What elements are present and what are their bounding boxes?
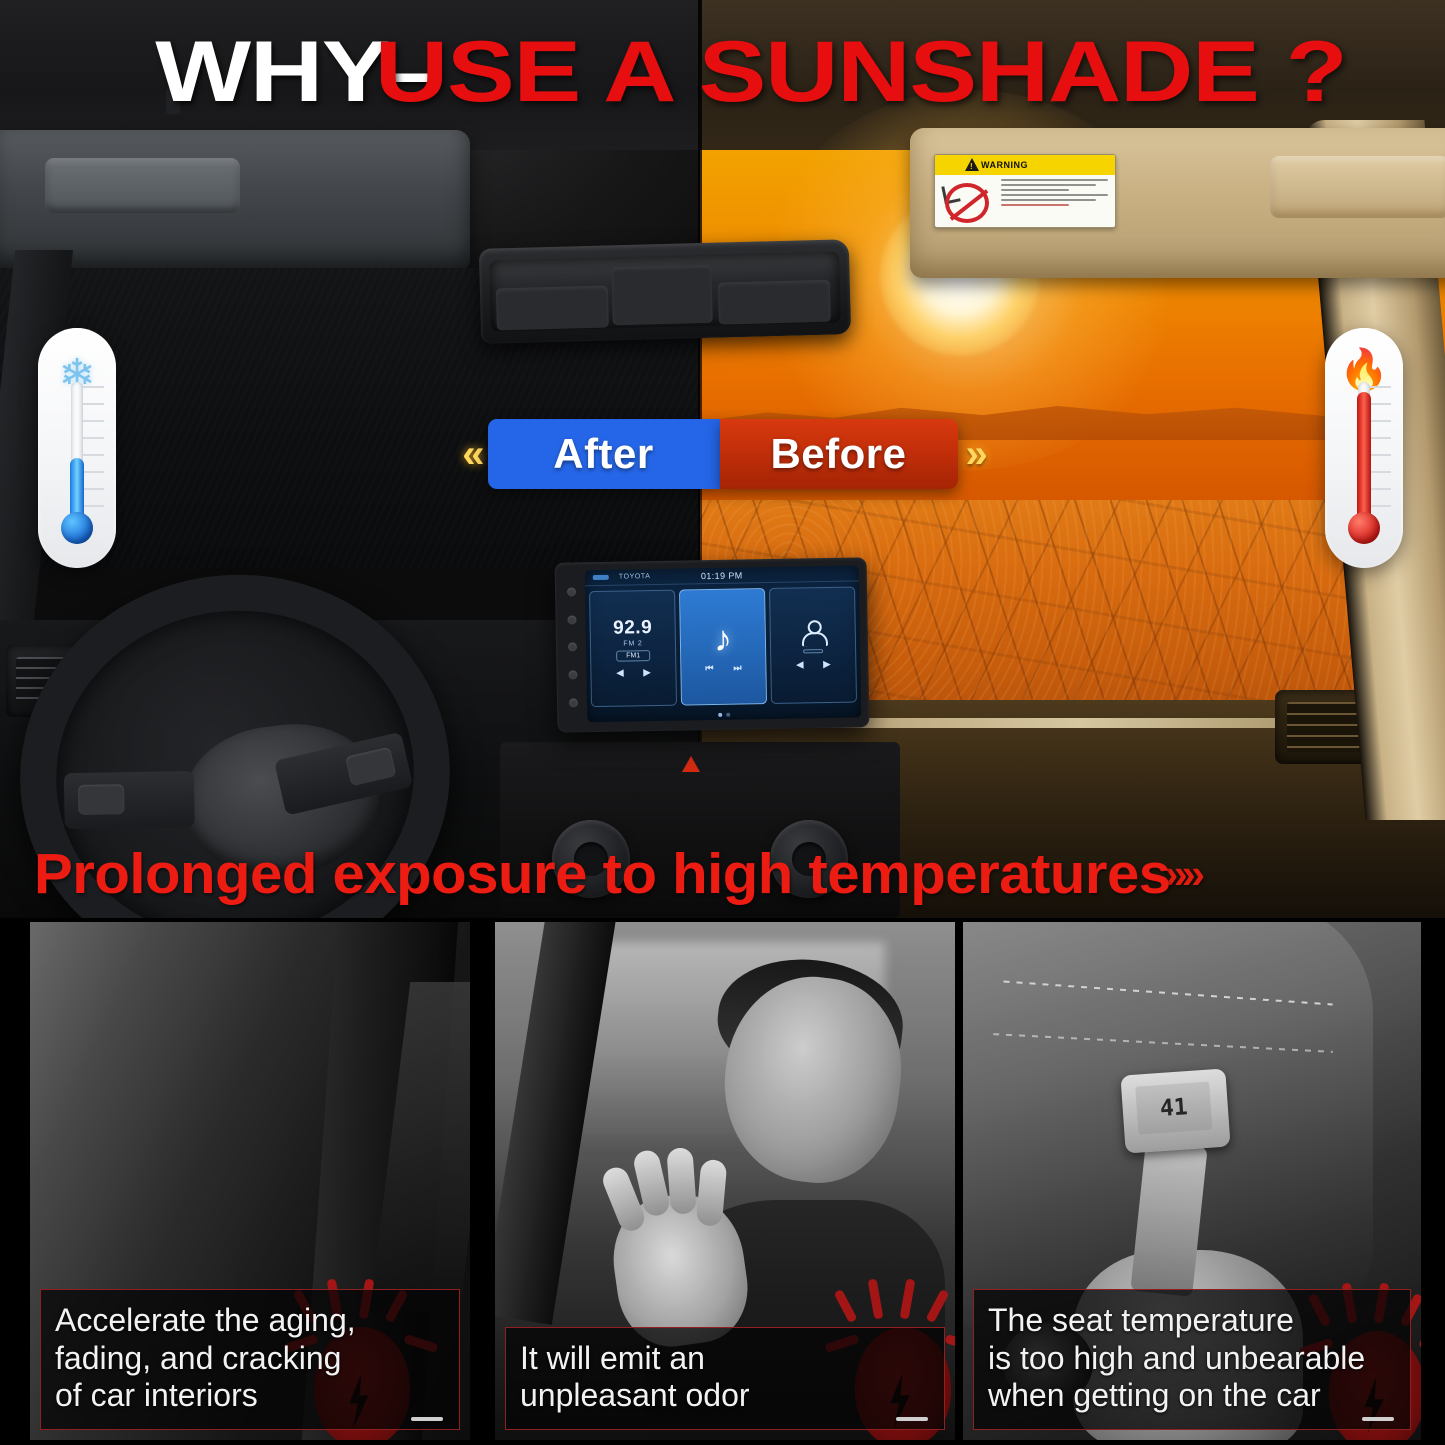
radio-next-button[interactable]: ▶ bbox=[643, 667, 650, 678]
head-unit-button[interactable] bbox=[567, 615, 576, 624]
panel-aging-fading-cracking: Accelerate the aging, fading, and cracki… bbox=[30, 922, 470, 1440]
chevron-right-icon: » bbox=[966, 434, 983, 474]
before-after-hero: WARNING bbox=[0, 0, 1445, 918]
warning-text-line bbox=[1001, 204, 1069, 206]
caption-line: of car interiors bbox=[55, 1377, 445, 1415]
media-prev-button[interactable]: ⏮ bbox=[705, 662, 713, 673]
sunshade-infographic-poster: WARNING bbox=[0, 0, 1445, 1445]
panel-unpleasant-odor: It will emit an unpleasant odor bbox=[495, 922, 955, 1440]
bluetooth-icon bbox=[593, 575, 609, 580]
head-unit-button[interactable] bbox=[566, 588, 575, 597]
page-dot-active[interactable] bbox=[718, 713, 722, 717]
warning-text-line bbox=[1001, 184, 1096, 186]
title-why: WHY bbox=[155, 29, 388, 115]
warning-label-body bbox=[935, 175, 1115, 228]
warning-text-line bbox=[1001, 179, 1108, 181]
warning-label-header: WARNING bbox=[935, 155, 1115, 175]
sun-visor-pocket bbox=[1270, 156, 1445, 218]
profile-nav-controls[interactable]: ◀ ▶ bbox=[796, 659, 830, 671]
warning-label-heading: WARNING bbox=[981, 160, 1028, 170]
warning-text-line bbox=[1001, 194, 1108, 196]
infotainment-head-unit[interactable]: TOYOTA 01:19 PM 92.9 FM 2 FM1 ◀ ▶ ♪ bbox=[555, 557, 870, 732]
head-unit-button[interactable] bbox=[568, 670, 577, 679]
caption-underscore bbox=[896, 1417, 928, 1421]
caption-line: is too high and unbearable bbox=[988, 1340, 1396, 1378]
panel-caption: It will emit an unpleasant odor bbox=[505, 1327, 945, 1431]
hazard-light-button[interactable] bbox=[682, 756, 700, 772]
infrared-thermometer: 41 bbox=[1120, 1068, 1230, 1153]
title-highlight: USE A SUNSHADE ? bbox=[375, 29, 1347, 115]
caption-line: fading, and cracking bbox=[55, 1340, 445, 1378]
warning-text-line bbox=[1001, 189, 1069, 191]
radio-prev-button[interactable]: ◀ bbox=[616, 668, 623, 679]
page-dot[interactable] bbox=[726, 713, 730, 717]
chevron-left-icon: « bbox=[462, 434, 479, 474]
radio-frequency: 92.9 bbox=[613, 618, 652, 638]
caption-line: It will emit an bbox=[520, 1340, 930, 1378]
radio-band-label: FM 2 bbox=[623, 640, 642, 647]
infotainment-tiles: 92.9 FM 2 FM1 ◀ ▶ ♪ ⏮ ⏭ bbox=[585, 581, 861, 712]
infotainment-screen[interactable]: TOYOTA 01:19 PM 92.9 FM 2 FM1 ◀ ▶ ♪ bbox=[585, 565, 862, 722]
thermometer-bulb-cold bbox=[61, 512, 93, 544]
thermometer-bulb-hot bbox=[1348, 512, 1380, 544]
radio-preset-label[interactable]: FM1 bbox=[616, 650, 650, 662]
warning-text-line bbox=[1001, 199, 1096, 201]
panel-caption: The seat temperature is too high and unb… bbox=[973, 1289, 1411, 1430]
caption-line: when getting on the car bbox=[988, 1377, 1396, 1415]
airbag-warning-label: WARNING bbox=[934, 154, 1116, 228]
before-badge[interactable]: Before bbox=[720, 419, 958, 489]
panel-seat-too-hot: 41 The seat temperature is too high and … bbox=[963, 922, 1421, 1440]
thermometer-lcd: 41 bbox=[1135, 1082, 1212, 1135]
finger bbox=[696, 1159, 728, 1227]
mirror-reflection-seat bbox=[496, 285, 609, 330]
media-transport-controls[interactable]: ⏮ ⏭ bbox=[705, 662, 741, 674]
after-badge[interactable]: After bbox=[488, 419, 720, 489]
infotainment-clock: 01:19 PM bbox=[701, 570, 743, 581]
tagline-row: Prolonged exposure to high temperatures … bbox=[0, 826, 1445, 922]
driver-profile-icon bbox=[802, 620, 824, 646]
warning-triangle-icon bbox=[965, 158, 979, 171]
radio-seek-controls[interactable]: ◀ ▶ bbox=[616, 667, 650, 679]
steering-button-cluster-right bbox=[345, 747, 397, 787]
prohibition-circle-icon bbox=[945, 183, 989, 223]
consequence-panels: Accelerate the aging, fading, and cracki… bbox=[0, 918, 1445, 1445]
tagline-text: Prolonged exposure to high temperatures bbox=[34, 846, 1171, 903]
sun-visor-right: WARNING bbox=[910, 128, 1445, 278]
radio-tile[interactable]: 92.9 FM 2 FM1 ◀ ▶ bbox=[589, 590, 677, 707]
warning-label-text-block bbox=[999, 175, 1115, 228]
head-unit-side-buttons[interactable] bbox=[563, 578, 581, 716]
media-tile[interactable]: ♪ ⏮ ⏭ bbox=[679, 588, 767, 705]
music-note-icon: ♪ bbox=[714, 620, 733, 656]
steering-button-cluster-left bbox=[78, 784, 125, 815]
caption-line: The seat temperature bbox=[988, 1302, 1396, 1340]
profile-select-pill[interactable] bbox=[803, 649, 823, 653]
no-child-seat-pictogram bbox=[935, 175, 999, 228]
head-unit-button[interactable] bbox=[568, 698, 577, 707]
after-before-badge-row: « After Before » bbox=[0, 412, 1445, 496]
sun-visor-left bbox=[0, 130, 470, 270]
media-next-button[interactable]: ⏭ bbox=[733, 662, 741, 673]
steering-spoke-left bbox=[64, 771, 195, 829]
rearview-mirror-glass bbox=[489, 251, 841, 331]
caption-underscore bbox=[411, 1417, 443, 1421]
head-unit-button[interactable] bbox=[567, 643, 576, 652]
poster-title: WHY – USE A SUNSHADE ? bbox=[0, 22, 1445, 122]
profile-next-button[interactable]: ▶ bbox=[823, 659, 830, 670]
finger bbox=[666, 1147, 697, 1215]
mirror-reflection-headrest bbox=[611, 265, 712, 326]
profile-prev-button[interactable]: ◀ bbox=[796, 659, 803, 670]
caption-underscore bbox=[1362, 1417, 1394, 1421]
panel-caption: Accelerate the aging, fading, and cracki… bbox=[40, 1289, 460, 1430]
infotainment-brand: TOYOTA bbox=[619, 573, 651, 581]
rearview-mirror bbox=[479, 239, 851, 344]
profile-tile[interactable]: ◀ ▶ bbox=[769, 586, 857, 703]
mirror-reflection-seat bbox=[718, 280, 831, 325]
caption-line: Accelerate the aging, bbox=[55, 1302, 445, 1340]
caption-line: unpleasant odor bbox=[520, 1377, 930, 1415]
thermometer-reading: 41 bbox=[1159, 1094, 1188, 1122]
